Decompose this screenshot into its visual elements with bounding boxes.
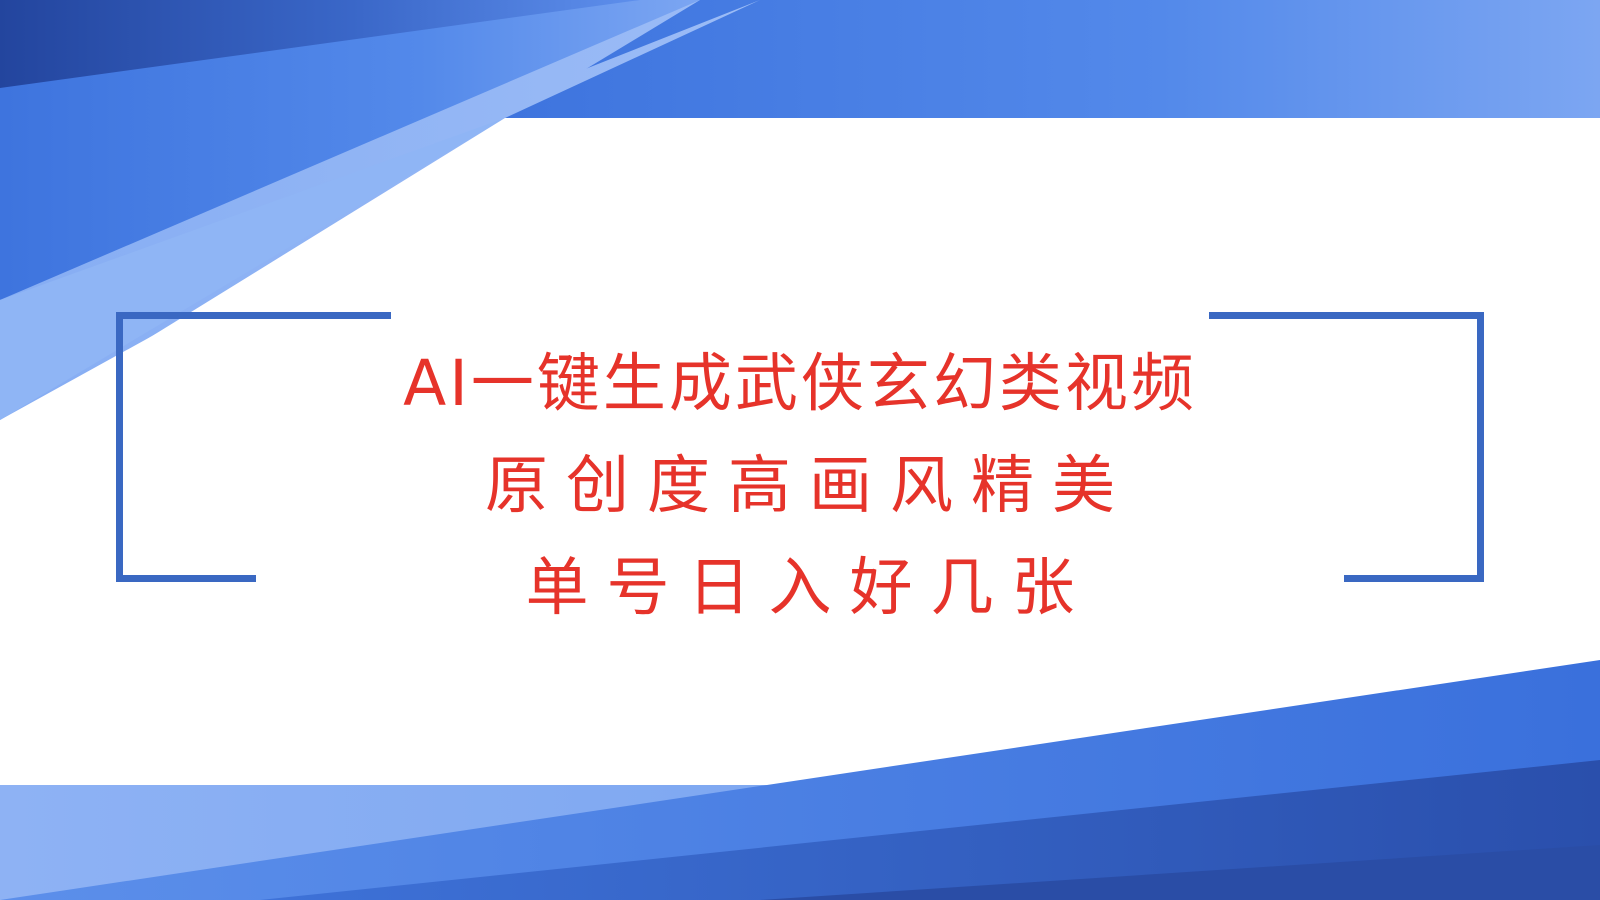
headline-line-2: 原创度高画风精美 (0, 454, 1600, 517)
headline-line-3: 单号日入好几张 (0, 556, 1600, 619)
headline-block: AI一键生成武侠玄幻类视频 原创度高画风精美 单号日入好几张 (0, 352, 1600, 619)
poster-canvas: AI一键生成武侠玄幻类视频 原创度高画风精美 单号日入好几张 (0, 0, 1600, 900)
headline-line-1: AI一键生成武侠玄幻类视频 (0, 352, 1600, 415)
